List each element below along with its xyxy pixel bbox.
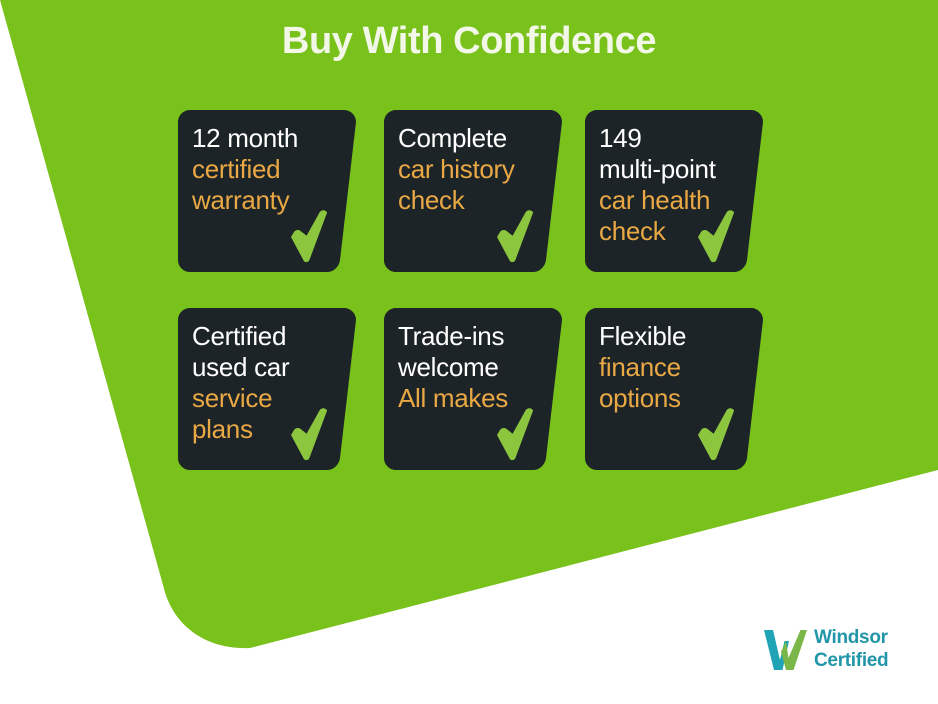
benefit-card-grid: 12 month certified warranty Complete car… (0, 0, 938, 704)
logo-wordmark: Windsor Certified (814, 626, 914, 672)
card-text: 12 month certified warranty (192, 123, 334, 216)
windsor-certified-logo[interactable]: Windsor Certified (762, 626, 914, 678)
benefit-card-12-month-certified-warranty[interactable]: 12 month certified warranty (178, 110, 356, 272)
card-text: Trade-ins welcome All makes (398, 321, 540, 414)
poster-canvas: Buy With Confidence 12 month certified w… (0, 0, 938, 704)
card-headline-line: Trade-ins (398, 321, 540, 352)
card-accent-line: finance (599, 352, 741, 383)
check-mark-icon (695, 408, 735, 462)
check-mark-icon (288, 408, 328, 462)
card-text: Flexible finance options (599, 321, 741, 414)
benefit-card-flexible-finance-options[interactable]: Flexible finance options (585, 308, 763, 470)
logo-line-windsor: Windsor (814, 626, 914, 649)
benefit-card-trade-ins-welcome-all-makes[interactable]: Trade-ins welcome All makes (384, 308, 562, 470)
logo-line-certified: Certified (814, 649, 914, 672)
benefit-card-certified-used-car-service-plans[interactable]: Certified used car service plans (178, 308, 356, 470)
card-headline-line: Complete (398, 123, 540, 154)
card-headline-line: multi-point (599, 154, 741, 185)
windsor-w-icon (762, 628, 808, 672)
card-headline-line: welcome (398, 352, 540, 383)
card-headline-line: 12 month (192, 123, 334, 154)
check-mark-icon (494, 408, 534, 462)
card-headline-line: used car (192, 352, 334, 383)
card-headline-line: Flexible (599, 321, 741, 352)
card-text: Complete car history check (398, 123, 540, 216)
card-headline-line: 149 (599, 123, 741, 154)
benefit-card-complete-car-history-check[interactable]: Complete car history check (384, 110, 562, 272)
card-headline-line: Certified (192, 321, 334, 352)
check-mark-icon (288, 210, 328, 264)
card-accent-line: certified (192, 154, 334, 185)
check-mark-icon (695, 210, 735, 264)
card-accent-line: car history (398, 154, 540, 185)
check-mark-icon (494, 210, 534, 264)
benefit-card-149-multi-point-car-health-check[interactable]: 149 multi-point car health check (585, 110, 763, 272)
